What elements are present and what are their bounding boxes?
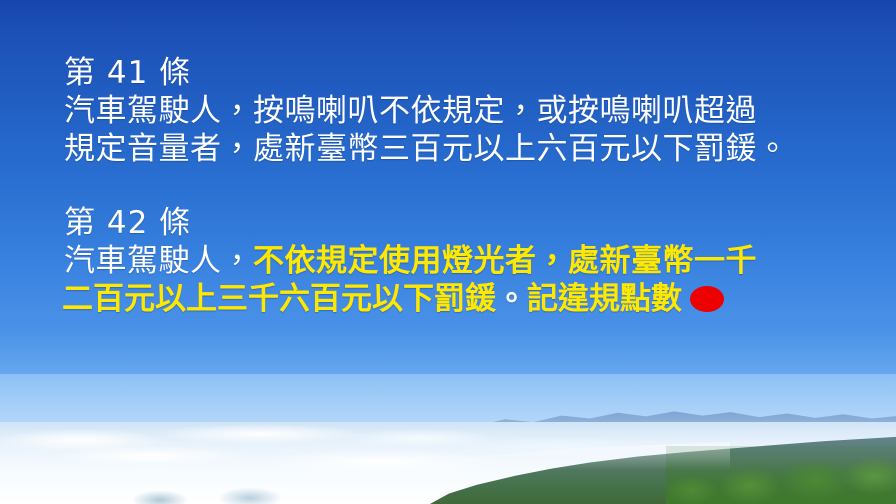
paragraph-article-42: 第 42 條 汽車駕駛人，不依規定使用燈光者，處新臺幣一千 二百元以上三千六百元… bbox=[64, 204, 864, 318]
article-42-line-1-normal: 汽車駕駛人， bbox=[64, 243, 253, 279]
red-dot-marker-icon bbox=[690, 286, 724, 312]
article-42-line-2-highlight-b: 記違規點數 bbox=[527, 281, 682, 317]
article-41-line-2: 規定音量者，處新臺幣三百元以上六百元以下罰鍰。 bbox=[64, 130, 864, 168]
article-42-heading: 第 42 條 bbox=[64, 204, 864, 242]
slide-canvas: 第 41 條 汽車駕駛人，按鳴喇叭不依規定，或按鳴喇叭超過 規定音量者，處新臺幣… bbox=[0, 0, 896, 504]
article-41-line-1: 汽車駕駛人，按鳴喇叭不依規定，或按鳴喇叭超過 bbox=[64, 92, 864, 130]
article-42-line-1-highlight: 不依規定使用燈光者，處新臺幣一千 bbox=[253, 243, 757, 279]
slide-text-content: 第 41 條 汽車駕駛人，按鳴喇叭不依規定，或按鳴喇叭超過 規定音量者，處新臺幣… bbox=[64, 54, 864, 318]
article-42-line-2-period: 。 bbox=[496, 281, 527, 317]
left-cloud-wisp bbox=[120, 478, 310, 504]
article-42-line-2: 二百元以上三千六百元以下罰鍰。記違規點數 bbox=[62, 280, 864, 318]
foreground-foliage bbox=[666, 446, 896, 504]
landscape-photo bbox=[0, 374, 896, 504]
paragraph-article-41: 第 41 條 汽車駕駛人，按鳴喇叭不依規定，或按鳴喇叭超過 規定音量者，處新臺幣… bbox=[64, 54, 864, 168]
article-41-heading: 第 41 條 bbox=[64, 54, 864, 92]
article-42-line-1: 汽車駕駛人，不依規定使用燈光者，處新臺幣一千 bbox=[64, 242, 864, 280]
article-42-line-2-highlight-a: 二百元以上三千六百元以下罰鍰 bbox=[62, 281, 496, 317]
